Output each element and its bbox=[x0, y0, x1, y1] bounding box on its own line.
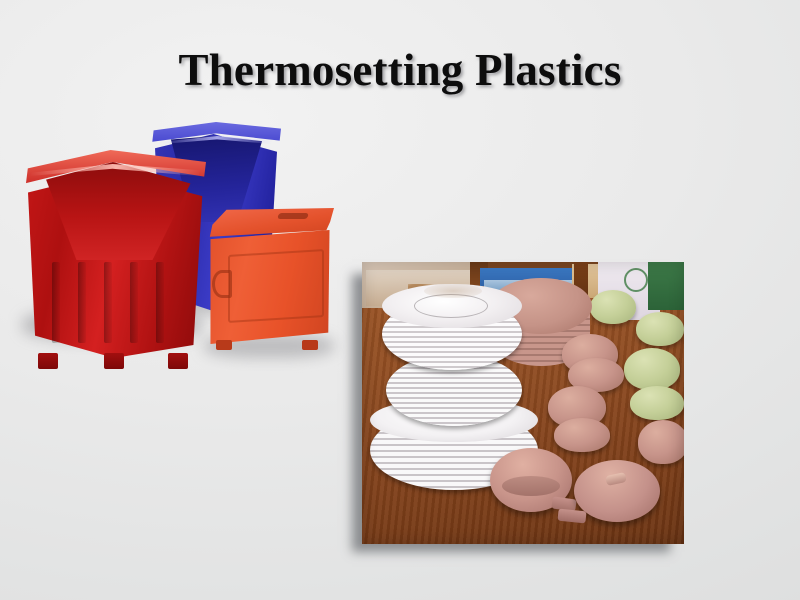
orange-lidded-box bbox=[206, 208, 334, 348]
pink-cup bbox=[554, 418, 610, 452]
green-cup bbox=[624, 348, 680, 390]
red-crate-foot bbox=[104, 353, 124, 369]
pink-serving-dish-lip bbox=[502, 476, 560, 496]
red-crate-rib bbox=[156, 262, 164, 344]
title-block: Thermosetting Plastics bbox=[0, 44, 800, 96]
background-logo-mark bbox=[624, 268, 648, 292]
red-crate-rib bbox=[104, 262, 112, 344]
slide-canvas: Thermosetting Plastics bbox=[0, 0, 800, 600]
red-crate-rib bbox=[78, 262, 86, 344]
orange-box-panel bbox=[228, 249, 324, 323]
pink-cup bbox=[638, 420, 684, 464]
orange-box-foot bbox=[302, 340, 318, 350]
red-crate-foot bbox=[168, 353, 188, 369]
page-title: Thermosetting Plastics bbox=[178, 44, 621, 96]
saucer-stain bbox=[424, 284, 482, 298]
green-cup bbox=[590, 290, 636, 324]
orange-box-foot bbox=[216, 340, 232, 350]
green-cup bbox=[636, 312, 684, 346]
pink-lidded-casserole bbox=[574, 460, 660, 522]
background-green-panel bbox=[648, 262, 684, 310]
orange-box-side-handle bbox=[212, 270, 232, 298]
red-crate-rib bbox=[130, 262, 138, 344]
red-crate-foot bbox=[38, 353, 58, 369]
green-cup bbox=[630, 386, 684, 420]
plastic-crates-figure bbox=[18, 112, 348, 362]
melamine-dinnerware-photo bbox=[362, 262, 684, 544]
red-crate-rib bbox=[52, 262, 60, 344]
red-crate bbox=[26, 150, 206, 365]
orange-box-lid-handle bbox=[277, 213, 309, 219]
